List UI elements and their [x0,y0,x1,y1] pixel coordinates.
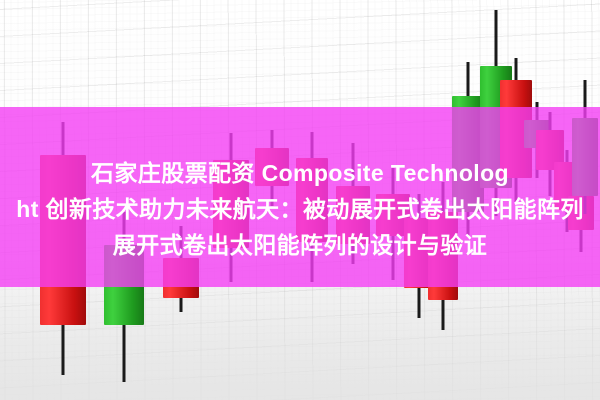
banner-image: 石家庄股票配资 Composite Technologht 创新技术助力未来航天… [0,0,600,400]
banner-title-line-1: 石家庄股票配资 Composite Technolog [0,155,600,191]
banner-title: 石家庄股票配资 Composite Technologht 创新技术助力未来航天… [0,155,600,263]
banner-title-line-3: 展开式卷出太阳能阵列的设计与验证 [0,227,600,263]
banner-title-line-2: ht 创新技术助力未来航天：被动展开式卷出太阳能阵列 [0,191,600,227]
